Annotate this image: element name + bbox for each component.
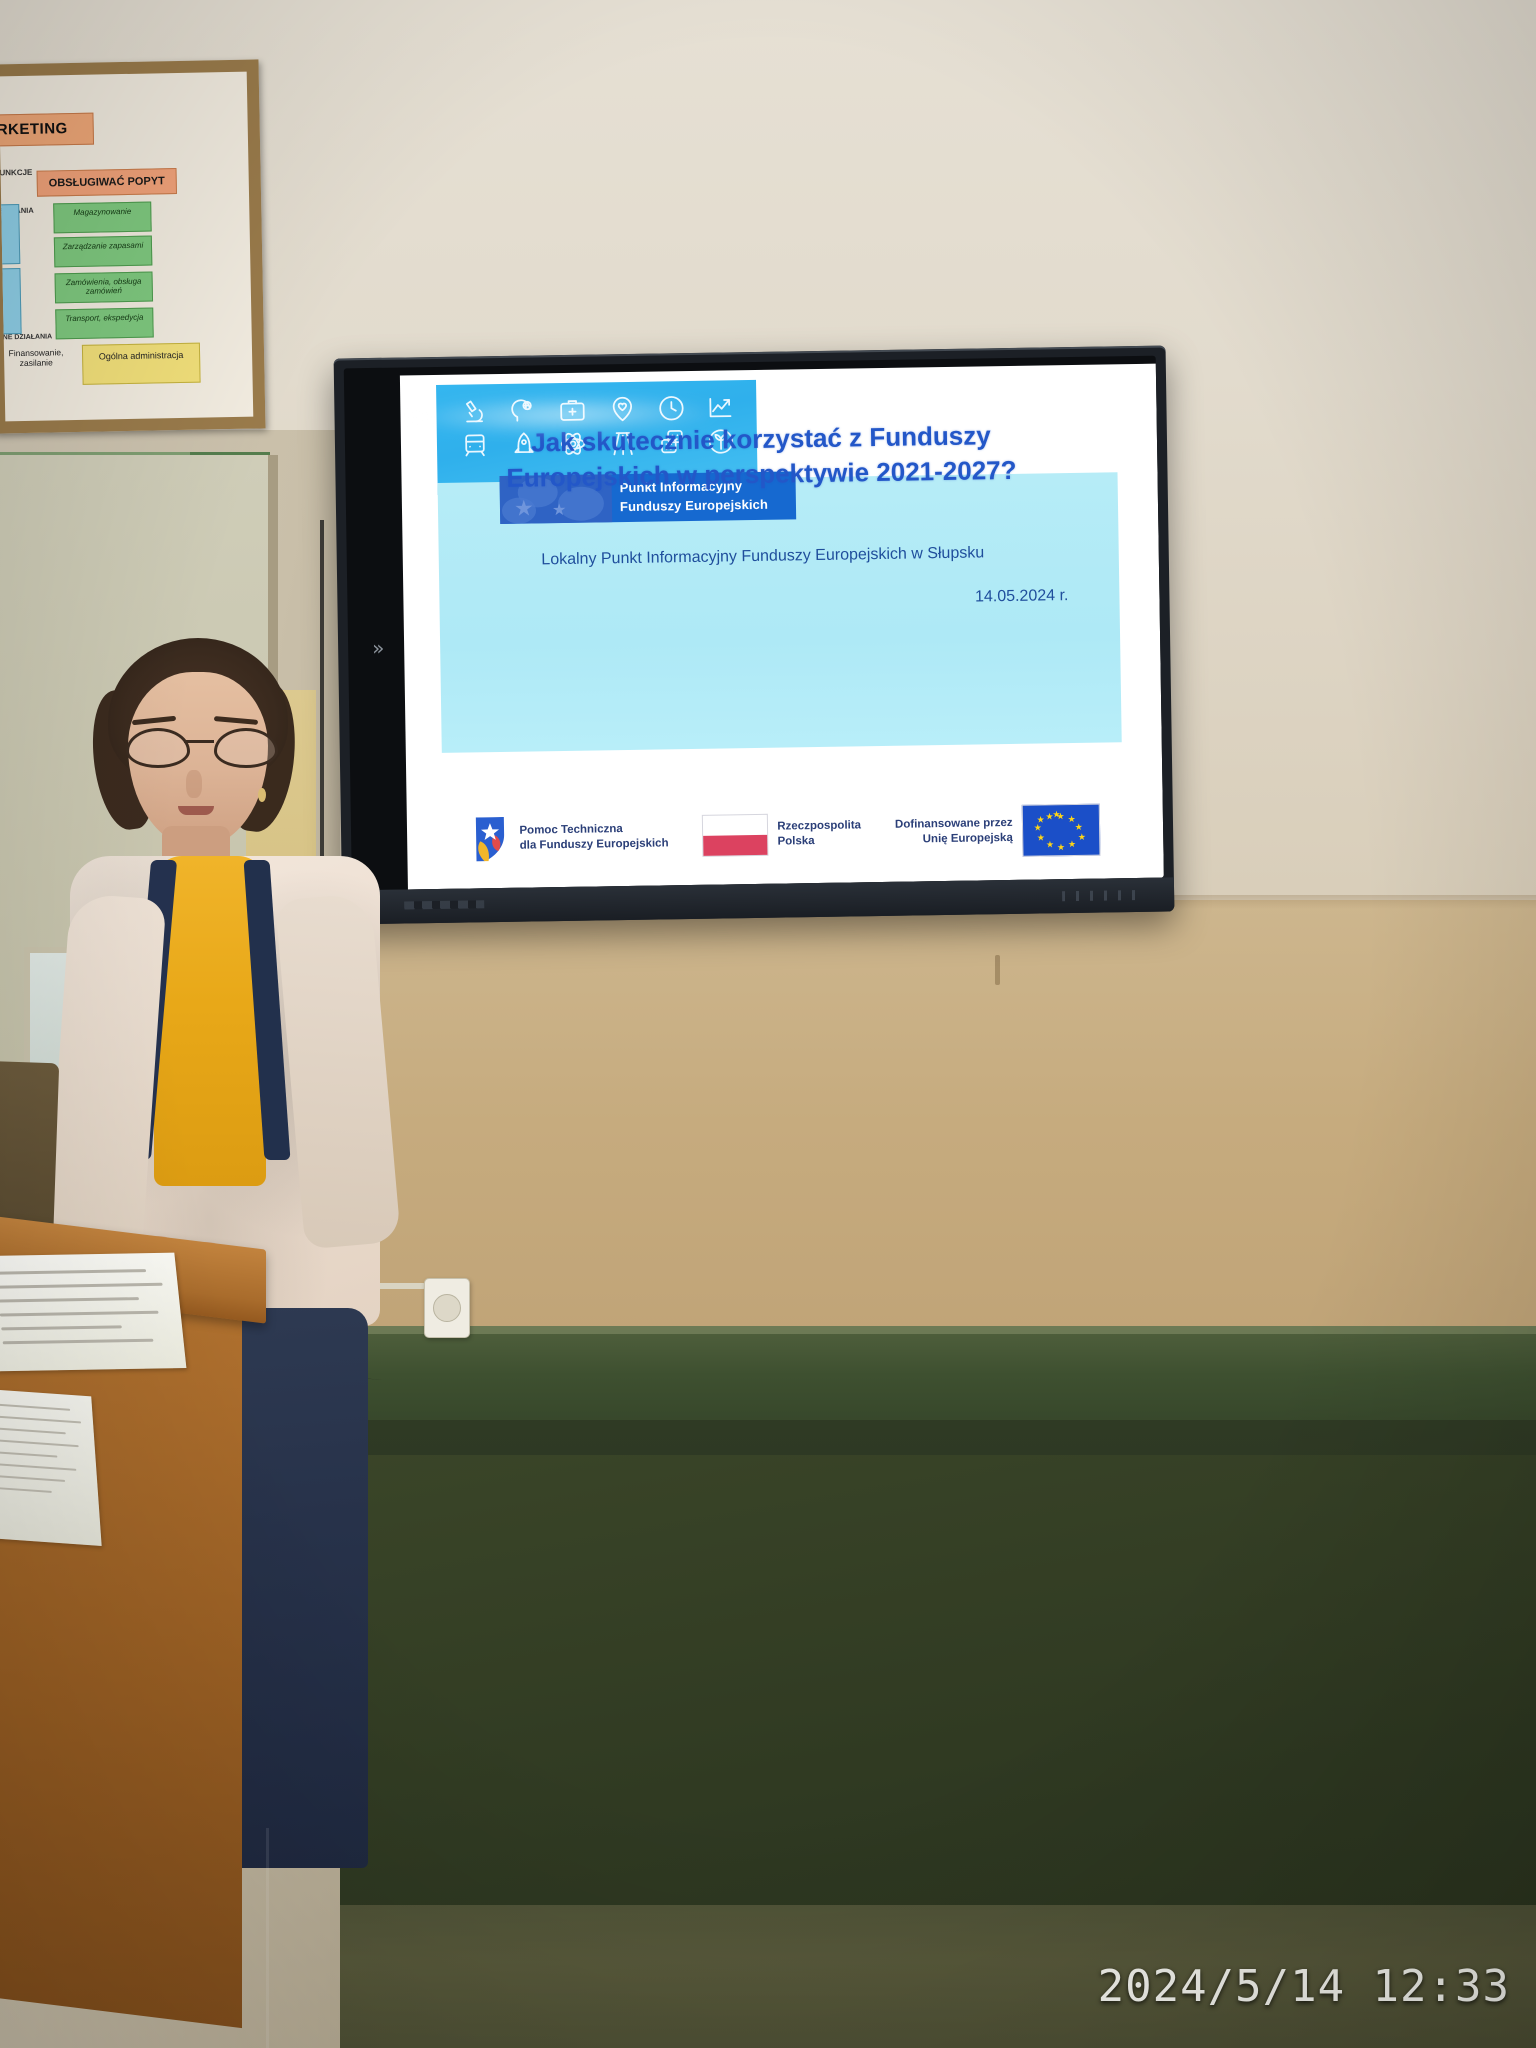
logo-eu-line2: Unię Europejską xyxy=(895,831,1013,848)
poster-label-funkcje: FUNKCJE xyxy=(0,168,32,178)
logo-fundusze-europejskie: Pomoc Techniczna dla Funduszy Europejski… xyxy=(470,814,669,861)
logo-pl-text: Rzeczpospolita Polska xyxy=(777,818,861,849)
slide-title: Jak skutecznie korzystać z Funduszy Euro… xyxy=(461,417,1062,497)
logo-eu-text: Dofinansowane przez Unię Europejską xyxy=(895,816,1013,848)
poland-flag-red-band xyxy=(703,835,767,856)
badge-line2: Funduszy Europejskich xyxy=(620,496,768,517)
eyeglasses xyxy=(124,728,274,762)
nose xyxy=(186,770,202,798)
logo-rzeczpospolita-polska: Rzeczpospolita Polska xyxy=(702,812,861,856)
logo-pl-line2: Polska xyxy=(777,833,861,849)
presentation-slide: ★ ★ Punkt Informacyjny Funduszy Europejs… xyxy=(400,364,1164,890)
poster-green-box: Magazynowanie xyxy=(53,202,152,234)
poster-finance-box: Finansowanie, zasilanie xyxy=(0,347,79,385)
location-pin-heart-icon xyxy=(607,394,637,424)
poster-label-inne: INNE DZIAŁANIA xyxy=(0,333,52,341)
poster-green-label-1: Zarządzanie zapasami xyxy=(55,237,151,252)
desk xyxy=(0,1232,280,2048)
poster-title-box: RKETING xyxy=(0,113,94,147)
poster-green-label-0: Magazynowanie xyxy=(54,203,150,218)
glasses-bridge xyxy=(184,740,214,743)
poland-flag-icon xyxy=(702,814,769,857)
display-bezel: ★ ★ Punkt Informacyjny Funduszy Europejs… xyxy=(344,356,1164,891)
fundusze-europejskie-logo xyxy=(470,817,511,862)
fe-mark-svg xyxy=(470,817,511,862)
poster-subtitle-box: OBSŁUGIWAĆ POPYT xyxy=(37,168,177,197)
wall-poster-content: RKETING FUNKCJE OBSŁUGIWAĆ POPYT DZIAŁAN… xyxy=(0,72,253,422)
microscope-icon xyxy=(459,396,489,426)
desk-front-panel xyxy=(0,1276,242,2028)
logo-fe-text: Pomoc Techniczna dla Funduszy Europejski… xyxy=(519,821,668,853)
display-indicator-lights xyxy=(1062,890,1140,901)
wall-poster-frame: RKETING FUNKCJE OBSŁUGIWAĆ POPYT DZIAŁAN… xyxy=(0,59,266,433)
wall-socket xyxy=(424,1278,470,1338)
poster-title: RKETING xyxy=(0,114,93,146)
poster-blue-box-2 xyxy=(0,268,22,335)
badge-star-icon: ★ xyxy=(514,497,534,519)
medical-bag-icon xyxy=(558,395,588,425)
lens-left xyxy=(126,728,190,768)
poster-green-label-3: Transport, ekspedycja xyxy=(56,309,152,324)
poster-finance-label: Finansowanie, zasilanie xyxy=(0,347,78,369)
lens-right xyxy=(214,728,278,768)
poster-subtitle: OBSŁUGIWAĆ POPYT xyxy=(49,175,165,189)
logo-european-union: Dofinansowane przez Unię Europejską ★ ★ … xyxy=(895,804,1100,859)
socket-hole xyxy=(433,1294,461,1322)
poster-green-box: Transport, ekspedycja xyxy=(55,307,154,339)
poster-green-box: Zamówienia, obsługa zamówień xyxy=(55,271,154,303)
wall-dado-top-edge xyxy=(320,1326,1536,1334)
head-lightbulb-icon xyxy=(508,395,538,425)
mouth xyxy=(178,806,214,815)
camera-timestamp: 2024/5/14 12:33 xyxy=(1098,1961,1510,2012)
paper-sheet xyxy=(0,1253,186,1372)
poster-blue-box-1 xyxy=(0,204,20,265)
wall-mark xyxy=(995,955,1000,985)
wall-dado-green xyxy=(320,1330,1536,1430)
poster-green-label-2: Zamówienia, obsługa zamówień xyxy=(56,273,152,297)
slide-footer-logos: Pomoc Techniczna dla Funduszy Europejski… xyxy=(407,796,1164,874)
paper-sheet xyxy=(0,1388,102,1546)
logo-fe-line2: dla Funduszy Europejskich xyxy=(520,836,669,853)
earring xyxy=(258,788,266,802)
display-ports xyxy=(404,900,484,909)
poster-yellow-label: Ogólna administracja xyxy=(83,344,199,363)
clock-icon xyxy=(656,393,686,423)
logo-pl-line1: Rzeczpospolita xyxy=(777,818,861,834)
photo-scene: RKETING FUNKCJE OBSŁUGIWAĆ POPYT DZIAŁAN… xyxy=(0,0,1536,2048)
european-union-flag-icon: ★ ★ ★ ★ ★ ★ ★ ★ ★ ★ ★ ★ xyxy=(1021,804,1100,857)
wall-mounted-display[interactable]: ★ ★ Punkt Informacyjny Funduszy Europejs… xyxy=(334,346,1175,925)
chart-growth-icon xyxy=(706,392,736,422)
poster-yellow-box: Ogólna administracja xyxy=(82,343,201,385)
badge-star-icon: ★ xyxy=(552,503,567,519)
poster-green-box: Zarządzanie zapasami xyxy=(54,236,153,268)
